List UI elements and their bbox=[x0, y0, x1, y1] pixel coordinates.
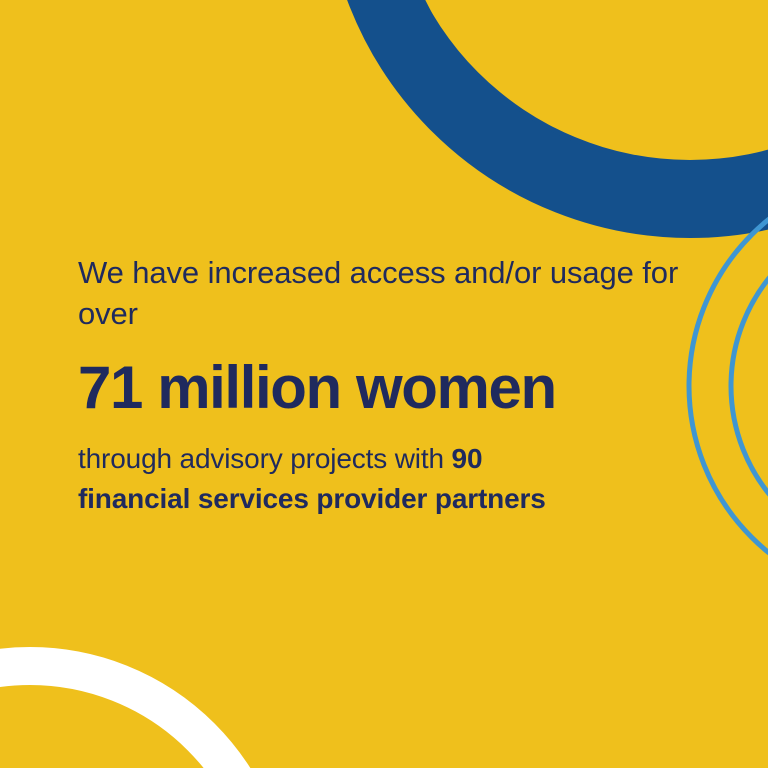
white-ring-arc bbox=[0, 666, 272, 768]
outro-lead-text: through advisory projects with bbox=[78, 443, 452, 474]
outro-partner-count: 90 bbox=[452, 443, 483, 474]
impact-statistic-card: We have increased access and/or usage fo… bbox=[0, 0, 768, 768]
navy-ring-arc bbox=[335, 0, 768, 215]
thin-arc-middle bbox=[731, 214, 768, 558]
thin-arc-outer bbox=[689, 172, 768, 600]
outro-text: through advisory projects with 90financi… bbox=[78, 439, 690, 519]
intro-text: We have increased access and/or usage fo… bbox=[78, 252, 690, 334]
navy-ring-arc-stroke bbox=[360, 0, 768, 202]
statistic-text-block: We have increased access and/or usage fo… bbox=[78, 252, 690, 519]
outro-partner-label: financial services provider partners bbox=[78, 483, 546, 514]
headline-statistic: 71 million women bbox=[78, 356, 690, 421]
